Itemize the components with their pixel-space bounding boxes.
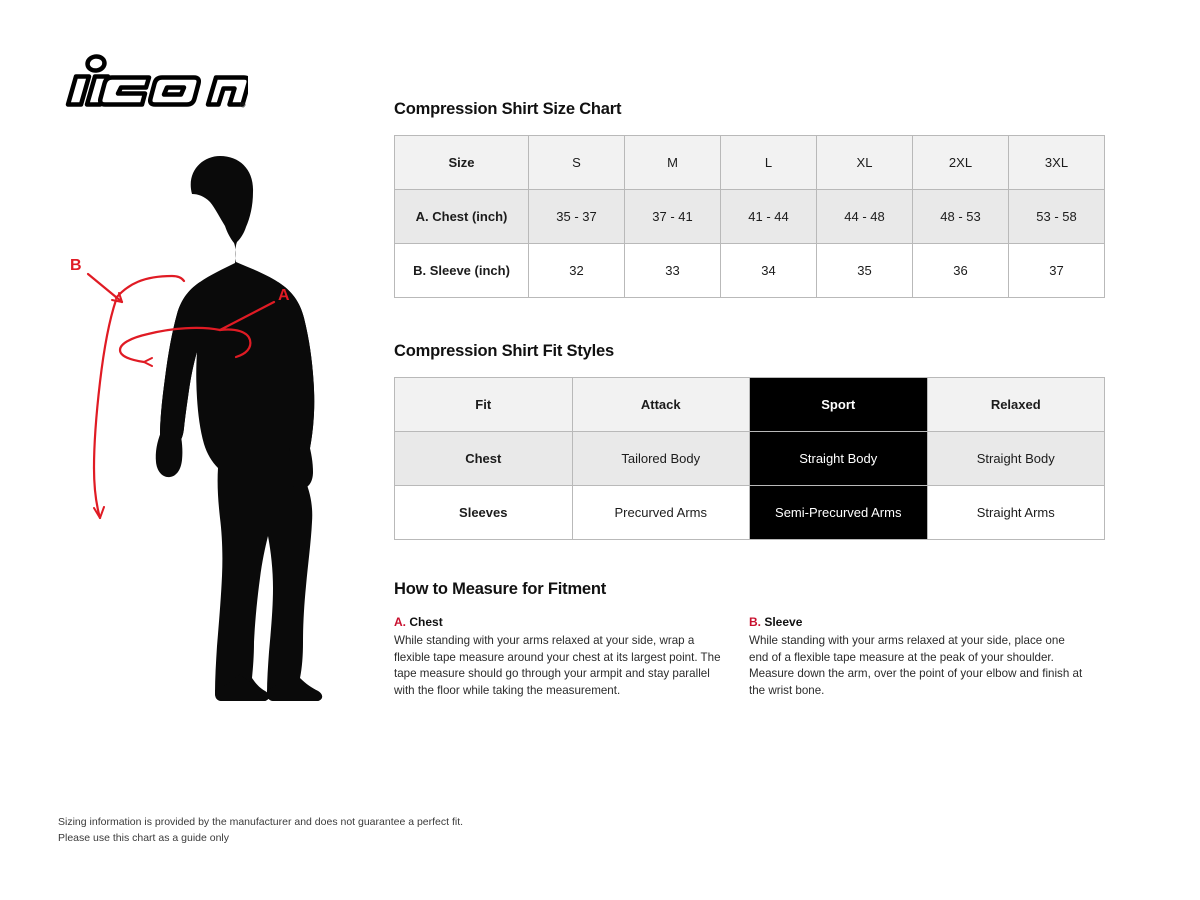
spacer: [394, 540, 1106, 580]
fit-sleeves-relaxed: Straight Arms: [927, 486, 1105, 540]
size-col-header-4: XL: [817, 136, 913, 190]
a-arrowhead: [144, 358, 152, 366]
measure-item-sleeve-text: While standing with your arms relaxed at…: [749, 633, 1086, 699]
body-measurement-figure: B A: [60, 150, 380, 730]
sleeve-value-xl: 35: [817, 244, 913, 298]
measure-name-sleeve: Sleeve: [764, 615, 802, 629]
chest-value-l: 41 - 44: [721, 190, 817, 244]
fit-row-label-sleeves: Sleeves: [395, 486, 573, 540]
size-col-header-3: L: [721, 136, 817, 190]
fit-col-header-fit: Fit: [395, 378, 573, 432]
table-row: A. Chest (inch) 35 - 37 37 - 41 41 - 44 …: [395, 190, 1105, 244]
male-body-silhouette: [156, 156, 322, 701]
fit-col-header-sport: Sport: [750, 378, 928, 432]
fit-chest-relaxed: Straight Body: [927, 432, 1105, 486]
measure-item-sleeve-heading: B. Sleeve: [749, 615, 1086, 629]
table-row: B. Sleeve (inch) 32 33 34 35 36 37: [395, 244, 1105, 298]
sleeve-value-3xl: 37: [1009, 244, 1105, 298]
measure-item-chest: A. Chest While standing with your arms r…: [394, 615, 749, 699]
size-col-header-5: 2XL: [913, 136, 1009, 190]
chest-value-m: 37 - 41: [625, 190, 721, 244]
footer-disclaimer: Sizing information is provided by the ma…: [58, 815, 463, 847]
table-row-header: Size S M L XL 2XL 3XL: [395, 136, 1105, 190]
how-to-measure-title: How to Measure for Fitment: [394, 580, 1106, 598]
fit-col-header-attack: Attack: [572, 378, 750, 432]
row-label-sleeve: B. Sleeve (inch): [395, 244, 529, 298]
measure-item-sleeve: B. Sleeve While standing with your arms …: [749, 615, 1104, 699]
table-row: Chest Tailored Body Straight Body Straig…: [395, 432, 1105, 486]
content-column: Compression Shirt Size Chart Size S M L …: [394, 100, 1106, 699]
size-col-header-2: M: [625, 136, 721, 190]
spacer: [394, 298, 1106, 342]
b-shoulder-curve: [116, 276, 184, 298]
fit-styles-table: Fit Attack Sport Relaxed Chest Tailored …: [394, 377, 1105, 540]
footer-disclaimer-line-1: Sizing information is provided by the ma…: [58, 815, 463, 831]
icon-brand-logo: ®: [58, 46, 248, 116]
size-col-header-6: 3XL: [1009, 136, 1105, 190]
chest-value-xl: 44 - 48: [817, 190, 913, 244]
fit-row-label-chest: Chest: [395, 432, 573, 486]
measure-item-chest-heading: A. Chest: [394, 615, 731, 629]
how-to-measure-section: How to Measure for Fitment A. Chest Whil…: [394, 580, 1106, 699]
size-chart-table: Size S M L XL 2XL 3XL A. Chest (inch) 35…: [394, 135, 1105, 298]
table-row: Sleeves Precurved Arms Semi-Precurved Ar…: [395, 486, 1105, 540]
b-upper-arm-line: [94, 300, 116, 468]
sleeve-value-l: 34: [721, 244, 817, 298]
fit-chest-attack: Tailored Body: [572, 432, 750, 486]
size-chart-title: Compression Shirt Size Chart: [394, 100, 1106, 118]
chest-value-3xl: 53 - 58: [1009, 190, 1105, 244]
fit-col-header-relaxed: Relaxed: [927, 378, 1105, 432]
registered-trademark-symbol: ®: [240, 101, 246, 110]
footer-disclaimer-line-2: Please use this chart as a guide only: [58, 831, 463, 847]
annotation-label-b: B: [70, 257, 82, 274]
table-row-header: Fit Attack Sport Relaxed: [395, 378, 1105, 432]
row-label-chest: A. Chest (inch): [395, 190, 529, 244]
sleeve-value-2xl: 36: [913, 244, 1009, 298]
chest-value-2xl: 48 - 53: [913, 190, 1009, 244]
measure-letter-b: B.: [749, 615, 761, 629]
fit-chest-sport: Straight Body: [750, 432, 928, 486]
annotation-label-a: A: [278, 287, 290, 304]
fit-styles-title: Compression Shirt Fit Styles: [394, 342, 1106, 360]
chest-value-s: 35 - 37: [529, 190, 625, 244]
sleeve-value-s: 32: [529, 244, 625, 298]
size-col-header-1: S: [529, 136, 625, 190]
fit-sleeves-sport: Semi-Precurved Arms: [750, 486, 928, 540]
size-col-header-0: Size: [395, 136, 529, 190]
measure-name-chest: Chest: [409, 615, 442, 629]
fit-sleeves-attack: Precurved Arms: [572, 486, 750, 540]
measure-letter-a: A.: [394, 615, 406, 629]
icon-wordmark-glyphs: [68, 55, 248, 104]
measure-item-chest-text: While standing with your arms relaxed at…: [394, 633, 731, 699]
sleeve-value-m: 33: [625, 244, 721, 298]
